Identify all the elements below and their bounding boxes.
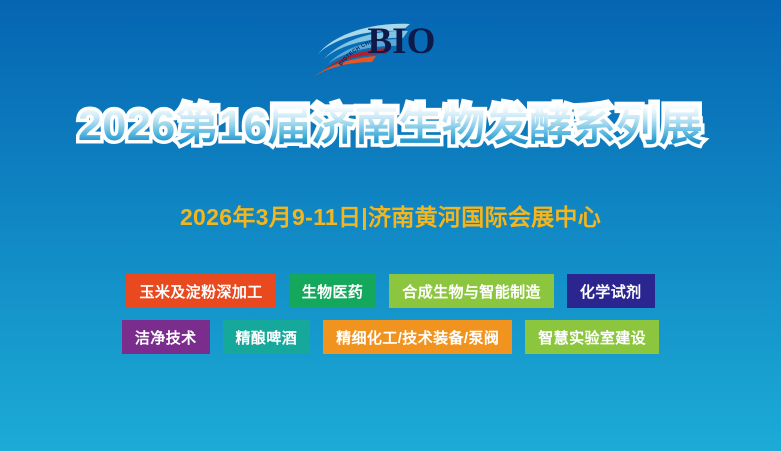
category-tag[interactable]: 精酿啤酒 (223, 320, 311, 354)
category-tag[interactable]: 合成生物与智能制造 (389, 274, 554, 308)
category-tag[interactable]: 化学试剂 (567, 274, 655, 308)
category-tag[interactable]: 精细化工/技术装备/泵阀 (323, 320, 512, 354)
page-title-fill: 2026第16届济南生物发酵系列展 (78, 102, 703, 150)
category-tag[interactable]: 玉米及淀粉深加工 (126, 274, 275, 308)
subtitle-block: 2026年3月9-11日|济南黄河国际会展中心 (0, 198, 781, 232)
category-tag-row: 洁净技术 精酿啤酒 精细化工/技术装备/泵阀 智慧实验室建设 (0, 320, 781, 354)
event-poster: BIOTECH CHINA BIO 2026第16届济南生物发酵系列展 2026… (0, 0, 781, 451)
category-tag[interactable]: 智慧实验室建设 (525, 320, 659, 354)
bio-logo: BIOTECH CHINA BIO (0, 18, 781, 84)
category-tag-row: 玉米及淀粉深加工 生物医药 合成生物与智能制造 化学试剂 (0, 274, 781, 308)
title-block: 2026第16届济南生物发酵系列展 2026第16届济南生物发酵系列展 (0, 103, 781, 150)
event-date-venue: 2026年3月9-11日|济南黄河国际会展中心 (180, 198, 601, 232)
page-title: 2026第16届济南生物发酵系列展 2026第16届济南生物发酵系列展 (78, 103, 703, 150)
category-tag[interactable]: 洁净技术 (122, 320, 210, 354)
logo-wordmark: BIO (368, 23, 436, 60)
category-tag-list: 玉米及淀粉深加工 生物医药 合成生物与智能制造 化学试剂 洁净技术 精酿啤酒 精… (0, 274, 781, 366)
category-tag[interactable]: 生物医药 (289, 274, 377, 308)
